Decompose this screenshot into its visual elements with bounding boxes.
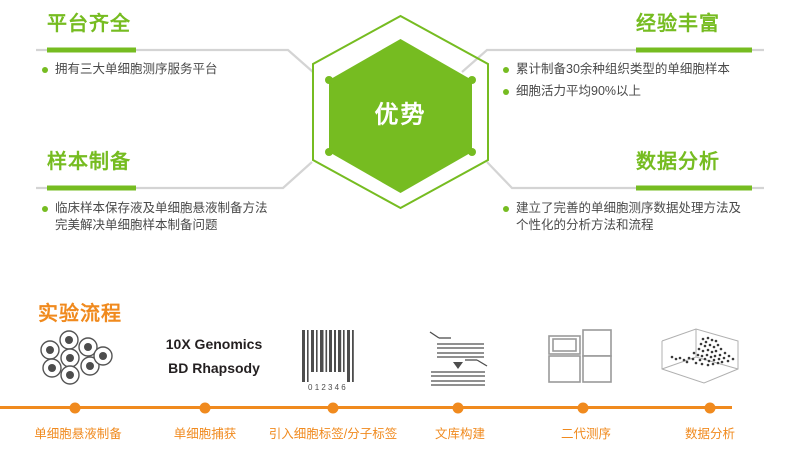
advantage-block-sample-prep: 样本制备 [47,152,297,172]
advantage-heading: 数据分析 [636,152,800,172]
bullet-item: 累计制备30余种组织类型的单细胞样本 [503,61,800,78]
workflow-step-label-2[interactable]: 单细胞捕获 [174,423,237,442]
workflow-dot-4[interactable] [453,403,464,414]
workflow-dot-6[interactable] [705,403,716,414]
infographic-canvas: 优势 平台齐全 拥有三大单细胞测序服务平台 经验丰富 累计制备30余种组织类型的… [0,0,800,463]
bullet-line-2: 个性化的分析方法和流程 [516,217,741,234]
bullet-dot-icon [503,89,509,95]
vendor-text-icon: 10X Genomics BD Rhapsody [166,332,263,380]
workflow-step-label-3[interactable]: 引入细胞标签/分子标签 [269,423,397,442]
bullet-line-1: 拥有三大单细胞测序服务平台 [55,62,218,76]
workflow-step-label-1[interactable]: 单细胞悬液制备 [34,423,122,442]
bullet-line-1: 细胞活力平均90%以上 [516,84,641,98]
advantage-bullets-data-analysis: 建立了完善的单细胞测序数据处理方法及 个性化的分析方法和流程 [503,200,800,239]
bullet-item: 拥有三大单细胞测序服务平台 [42,61,322,78]
bullet-line-1: 累计制备30余种组织类型的单细胞样本 [516,62,730,76]
bullet-line-1: 临床样本保存液及单细胞悬液制备方法 [55,201,268,215]
advantage-bullets-platform: 拥有三大单细胞测序服务平台 [42,61,322,83]
bullet-line-2: 完美解决单细胞样本制备问题 [55,217,268,234]
vendor-line-2: BD Rhapsody [166,356,263,380]
advantage-bullets-experience: 累计制备30余种组织类型的单细胞样本 细胞活力平均90%以上 [503,61,800,105]
hexagon-center: 优势 [298,12,503,212]
workflow-dot-2[interactable] [200,403,211,414]
vendor-line-1: 10X Genomics [166,332,263,356]
bullet-dot-icon [503,67,509,73]
barcode-digits: 012346 [308,383,348,392]
workflow-step-label-4[interactable]: 文库构建 [435,423,485,442]
advantage-heading: 平台齐全 [47,14,297,34]
workflow-title: 实验流程 [38,297,122,326]
advantage-heading: 经验丰富 [636,14,800,34]
scatter3d-icon [658,325,742,387]
cell-cluster-icon [33,328,117,386]
sequencer-machine-icon [547,328,613,386]
bullet-line-1: 建立了完善的单细胞测序数据处理方法及 [516,201,741,215]
workflow-step-label-5[interactable]: 二代测序 [561,423,611,442]
bullet-item: 临床样本保存液及单细胞悬液制备方法 完美解决单细胞样本制备问题 [42,200,362,234]
advantage-block-platform: 平台齐全 [47,14,297,34]
bullet-dot-icon [503,206,509,212]
bullet-dot-icon [42,67,48,73]
workflow-step-label-6[interactable]: 数据分析 [685,423,735,442]
workflow-timeline-track [0,406,732,409]
advantage-bullets-sample-prep: 临床样本保存液及单细胞悬液制备方法 完美解决单细胞样本制备问题 [42,200,362,239]
barcode-icon: 012346 [300,330,360,392]
bullet-item: 细胞活力平均90%以上 [503,83,800,100]
hexagon-graphic [298,12,503,212]
workflow-dot-1[interactable] [70,403,81,414]
bullet-dot-icon [42,206,48,212]
workflow-section: 实验流程 10X Genomics BD Rh [0,280,800,463]
workflow-dot-3[interactable] [328,403,339,414]
advantage-block-experience: 经验丰富 [636,14,800,34]
advantage-heading: 样本制备 [47,152,297,172]
library-fragments-icon [421,328,499,388]
bullet-item: 建立了完善的单细胞测序数据处理方法及 个性化的分析方法和流程 [503,200,800,234]
advantages-section: 优势 平台齐全 拥有三大单细胞测序服务平台 经验丰富 累计制备30余种组织类型的… [0,0,800,275]
advantage-block-data-analysis: 数据分析 [636,152,800,172]
workflow-dot-5[interactable] [578,403,589,414]
